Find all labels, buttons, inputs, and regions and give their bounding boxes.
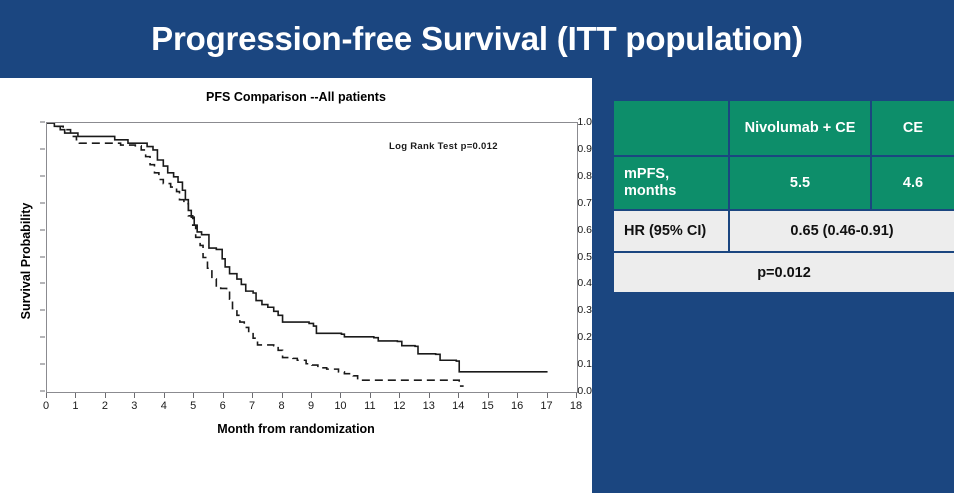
y-tick-mark xyxy=(40,283,45,284)
summary-header-row: Nivolumab + CE CE xyxy=(613,100,954,156)
x-tick-label: 14 xyxy=(446,400,470,412)
summary-mpfs-ce: 4.6 xyxy=(871,156,954,210)
x-tick-label: 11 xyxy=(358,400,382,412)
x-tick-label: 7 xyxy=(240,400,264,412)
x-tick-mark xyxy=(46,393,47,398)
x-tick-mark xyxy=(576,393,577,398)
summary-header-nivolumab-ce: Nivolumab + CE xyxy=(729,100,871,156)
km-curve-y xyxy=(47,123,464,386)
summary-header-blank xyxy=(613,100,729,156)
x-tick-mark xyxy=(340,393,341,398)
x-tick-mark xyxy=(105,393,106,398)
x-tick-label: 18 xyxy=(564,400,588,412)
km-curve-x xyxy=(47,123,548,372)
y-tick-mark xyxy=(40,148,45,149)
slide-root: Progression-free Survival (ITT populatio… xyxy=(0,0,954,493)
x-tick-mark xyxy=(75,393,76,398)
plot-area: Log Rank Test p=0.012 xyxy=(46,122,578,393)
summary-row-hr: HR (95% CI) 0.65 (0.46-0.91) xyxy=(613,210,954,252)
y-tick-mark xyxy=(40,256,45,257)
chart-title: PFS Comparison --All patients xyxy=(0,90,592,104)
y-tick-mark xyxy=(40,122,45,123)
x-tick-label: 1 xyxy=(63,400,87,412)
km-curves xyxy=(47,123,577,392)
y-tick-mark xyxy=(40,310,45,311)
x-tick-label: 15 xyxy=(476,400,500,412)
summary-header-ce: CE xyxy=(871,100,954,156)
summary-row-mpfs: mPFS, months 5.5 4.6 xyxy=(613,156,954,210)
x-tick-label: 3 xyxy=(122,400,146,412)
summary-hr-value: 0.65 (0.46-0.91) xyxy=(729,210,954,252)
x-tick-mark xyxy=(458,393,459,398)
x-tick-mark xyxy=(399,393,400,398)
summary-label-mpfs: mPFS, months xyxy=(613,156,729,210)
x-tick-label: 12 xyxy=(387,400,411,412)
y-tick-label: 0.7 xyxy=(554,197,592,209)
y-tick-label: 1.0 xyxy=(554,116,592,128)
y-tick-mark xyxy=(40,337,45,338)
y-tick-label: 0.3 xyxy=(554,304,592,316)
y-tick-mark xyxy=(40,229,45,230)
y-axis-title: Survival Probability xyxy=(19,171,33,351)
y-tick-mark xyxy=(40,175,45,176)
x-tick-mark xyxy=(488,393,489,398)
x-tick-mark xyxy=(429,393,430,398)
x-tick-label: 16 xyxy=(505,400,529,412)
y-tick-label: 0.2 xyxy=(554,331,592,343)
page-title: Progression-free Survival (ITT populatio… xyxy=(151,20,803,58)
y-tick-label: 0.1 xyxy=(554,358,592,370)
x-tick-label: 13 xyxy=(417,400,441,412)
x-tick-mark xyxy=(164,393,165,398)
summary-table: Nivolumab + CE CE mPFS, months 5.5 4.6 H… xyxy=(612,99,954,294)
log-rank-annotation: Log Rank Test p=0.012 xyxy=(389,141,498,152)
summary-label-hr: HR (95% CI) xyxy=(613,210,729,252)
x-tick-mark xyxy=(547,393,548,398)
y-tick-label: 0.6 xyxy=(554,224,592,236)
y-tick-mark xyxy=(40,391,45,392)
y-tick-label: 0.5 xyxy=(554,251,592,263)
x-tick-mark xyxy=(252,393,253,398)
x-tick-mark xyxy=(517,393,518,398)
x-tick-mark xyxy=(370,393,371,398)
x-tick-label: 5 xyxy=(181,400,205,412)
x-tick-mark xyxy=(311,393,312,398)
x-axis-title: Month from randomization xyxy=(0,422,592,436)
x-tick-label: 0 xyxy=(34,400,58,412)
x-tick-mark xyxy=(193,393,194,398)
x-tick-mark xyxy=(282,393,283,398)
summary-row-pvalue: p=0.012 xyxy=(613,252,954,293)
x-tick-label: 2 xyxy=(93,400,117,412)
x-tick-label: 4 xyxy=(152,400,176,412)
y-tick-label: 0.9 xyxy=(554,143,592,155)
x-tick-label: 6 xyxy=(211,400,235,412)
summary-pvalue: p=0.012 xyxy=(613,252,954,293)
y-tick-mark xyxy=(40,364,45,365)
x-tick-mark xyxy=(134,393,135,398)
x-tick-label: 9 xyxy=(299,400,323,412)
y-tick-label: 0.0 xyxy=(554,385,592,397)
x-tick-mark xyxy=(223,393,224,398)
summary-mpfs-nivolumab-ce: 5.5 xyxy=(729,156,871,210)
x-tick-label: 10 xyxy=(328,400,352,412)
chart-panel: PFS Comparison --All patients Survival P… xyxy=(0,78,592,493)
y-tick-mark xyxy=(40,202,45,203)
x-tick-label: 8 xyxy=(270,400,294,412)
title-bar: Progression-free Survival (ITT populatio… xyxy=(0,0,954,78)
y-tick-label: 0.8 xyxy=(554,170,592,182)
x-tick-label: 17 xyxy=(535,400,559,412)
y-tick-label: 0.4 xyxy=(554,277,592,289)
